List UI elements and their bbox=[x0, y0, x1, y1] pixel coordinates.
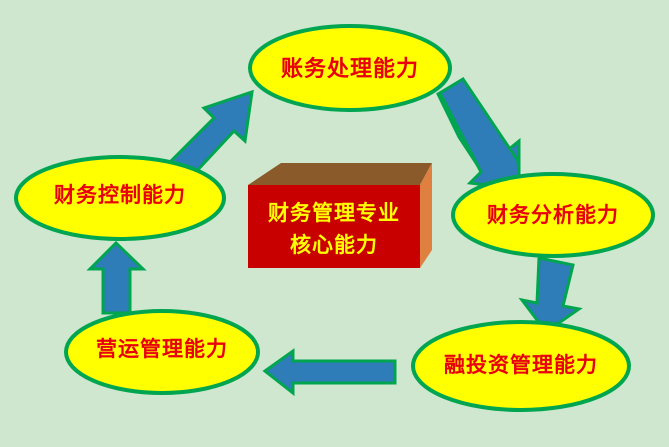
diagram-canvas: 财务管理专业 核心能力 账务处理能力 财务分析能力 融投资管理能力 营运管理能力… bbox=[0, 0, 669, 447]
arrow-right-lower-to-left-lower bbox=[265, 351, 395, 393]
arrow-left-lower-to-left-upper bbox=[90, 243, 143, 313]
core-box-top-face bbox=[248, 163, 432, 185]
arrow-left-upper-to-top bbox=[170, 92, 252, 175]
node-right-upper[interactable]: 财务分析能力 bbox=[453, 174, 653, 256]
core-box-label-line2: 核心能力 bbox=[290, 233, 378, 257]
core-box: 财务管理专业 核心能力 bbox=[248, 163, 432, 268]
node-top[interactable]: 账务处理能力 bbox=[250, 26, 450, 110]
node-left-lower[interactable]: 营运管理能力 bbox=[66, 311, 258, 393]
node-right-upper-label: 财务分析能力 bbox=[487, 203, 619, 227]
node-left-upper[interactable]: 财务控制能力 bbox=[16, 157, 224, 239]
node-top-label: 账务处理能力 bbox=[281, 56, 419, 82]
node-left-upper-label: 财务控制能力 bbox=[54, 183, 186, 207]
node-right-lower-label: 融投资管理能力 bbox=[444, 353, 598, 377]
node-left-lower-label: 营运管理能力 bbox=[96, 337, 228, 361]
cycle-diagram: 财务管理专业 核心能力 账务处理能力 财务分析能力 融投资管理能力 营运管理能力… bbox=[0, 0, 669, 447]
arrow-top-to-right-upper bbox=[438, 79, 520, 189]
node-right-lower[interactable]: 融投资管理能力 bbox=[413, 322, 629, 410]
core-box-label-line1: 财务管理专业 bbox=[268, 201, 400, 225]
arrow-up-right-icon bbox=[170, 92, 252, 175]
arrow-left-icon bbox=[265, 351, 395, 393]
arrow-down-right-shaft bbox=[440, 79, 520, 189]
arrow-up-icon bbox=[90, 243, 143, 313]
